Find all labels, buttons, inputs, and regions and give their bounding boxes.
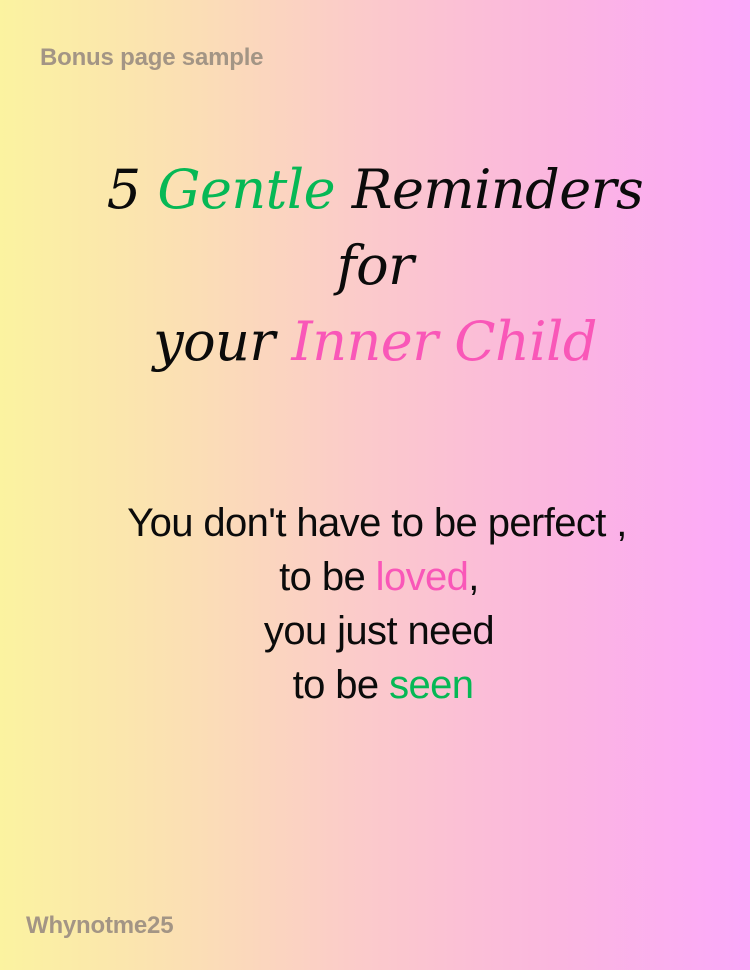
quote-accent-loved: loved	[376, 555, 469, 599]
header-label: Bonus page sample	[40, 44, 263, 72]
page-canvas: Bonus page sample 5 Gentle Reminders for…	[0, 0, 750, 970]
quote-line-1: You don't have to be perfect ,	[4, 496, 750, 550]
title-line-1: 5 Gentle Reminders	[0, 152, 750, 228]
title-word-your: your	[153, 310, 275, 373]
title-line-3: your Inner Child	[0, 304, 750, 380]
title-number: 5	[107, 158, 141, 221]
quote-line-2-tail: ,	[468, 555, 479, 599]
quote-line-4: to be seen	[16, 658, 750, 712]
quote-accent-seen: seen	[389, 663, 473, 707]
title-accent-gentle: Gentle	[157, 158, 335, 221]
quote-line-4-lead: to be	[293, 663, 389, 707]
quote-line-2-lead: to be	[279, 555, 375, 599]
title-accent-inner-child: Inner Child	[291, 310, 597, 373]
page-title: 5 Gentle Reminders for your Inner Child	[0, 152, 750, 380]
quote-line-3: you just need	[8, 604, 750, 658]
title-word-reminders: Reminders	[352, 158, 643, 221]
title-line-2: for	[0, 228, 750, 304]
title-word-for: for	[337, 234, 414, 297]
footer-label: Whynotme25	[26, 912, 173, 940]
quote-line-2: to be loved,	[8, 550, 750, 604]
quote-text: You don't have to be perfect , to be lov…	[0, 496, 750, 712]
